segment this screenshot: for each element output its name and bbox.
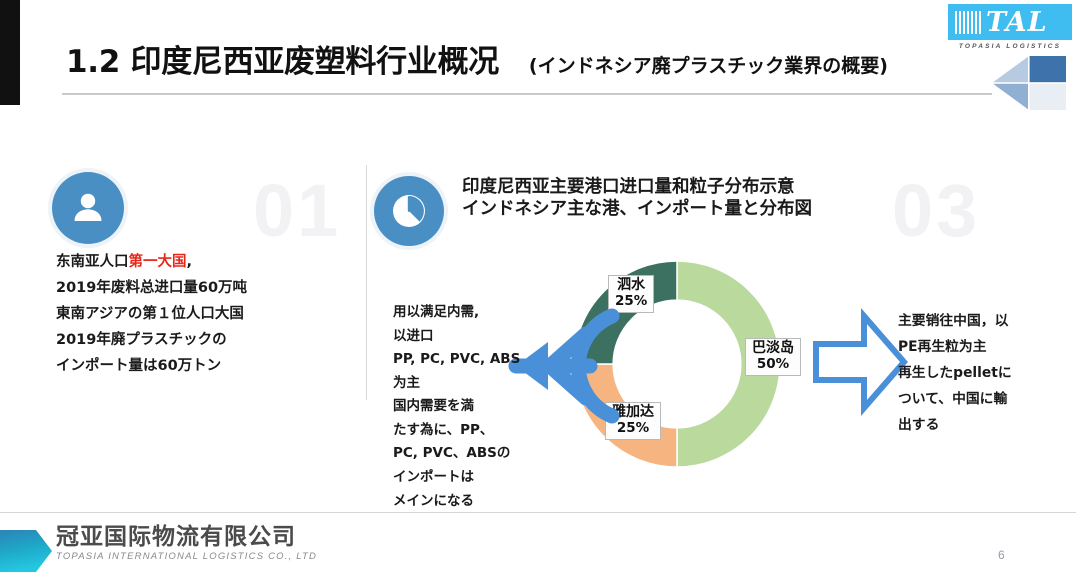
chart-label-sishui-name: 泗水	[615, 278, 647, 294]
tal-logo-text: TAL	[986, 9, 1048, 36]
tal-logo-box: TAL	[948, 4, 1072, 40]
diamond-icon	[992, 56, 1066, 110]
right-line-5: 出する	[898, 418, 1073, 433]
left-text-column: 东南亚人口第一大国, 2019年废料总进口量60万吨 東南アジアの第１位人口大国…	[56, 255, 356, 385]
mid-line-1: 用以满足内需,	[393, 305, 523, 320]
page-title: 1.2 印度尼西亚废塑料行业概况 (インドネシア廃プラスチック業界の概要)	[66, 36, 888, 81]
page-number: 6	[998, 548, 1005, 562]
slide-root: 1.2 印度尼西亚废塑料行业概况 (インドネシア廃プラスチック業界の概要) TA…	[0, 0, 1080, 578]
slide-footer: 冠亚国际物流有限公司 TOPASIA INTERNATIONAL LOGISTI…	[0, 520, 1080, 578]
mid-line-8: インポートは	[393, 470, 523, 485]
mid-line-2: 以进口	[393, 329, 523, 344]
mid-line-4: 为主	[393, 376, 523, 391]
chart-heading: 印度尼西亚主要港口进口量和粒子分布示意 インドネシア主な港、インポート量と分布図	[462, 176, 932, 221]
page-title-sub: (インドネシア廃プラスチック業界の概要)	[529, 51, 888, 78]
highlight-text: 第一大国	[129, 254, 187, 270]
clock-icon	[374, 176, 444, 246]
right-line-4: ついて、中国に輸	[898, 392, 1073, 407]
right-text-column: 主要销往中国，以 PE再生粒为主 再生したpelletに ついて、中国に輸 出す…	[898, 314, 1073, 443]
column-divider	[366, 165, 367, 400]
tal-logo-tagline: TOPASIA LOGISTICS	[948, 43, 1072, 50]
mid-text-column: 用以满足内需, 以进口 PP, PC, PVC, ABS 为主 国内需要を満 た…	[393, 305, 523, 517]
bars-icon	[955, 11, 981, 34]
header-divider	[62, 93, 992, 95]
mid-line-6: たす為に、PP、	[393, 423, 523, 438]
pentagon-mark-icon	[0, 528, 52, 574]
left-line-2: 2019年废料总进口量60万吨	[56, 281, 356, 297]
footer-divider	[0, 512, 1080, 513]
chart-heading-line1: 印度尼西亚主要港口进口量和粒子分布示意	[462, 176, 932, 198]
footer-company: 冠亚国际物流有限公司 TOPASIA INTERNATIONAL LOGISTI…	[56, 525, 317, 562]
right-edge-spacer	[1076, 0, 1080, 578]
footer-company-cn: 冠亚国际物流有限公司	[56, 525, 317, 550]
person-icon	[52, 172, 124, 244]
right-line-1: 主要销往中国，以	[898, 314, 1073, 329]
mid-line-9: メインになる	[393, 494, 523, 509]
left-line-3: 東南アジアの第１位人口大国	[56, 307, 356, 323]
left-line-1: 东南亚人口第一大国,	[56, 255, 356, 271]
chart-label-badan-name: 巴淡岛	[752, 341, 794, 357]
tal-logo: TAL TOPASIA LOGISTICS	[948, 4, 1072, 50]
footer-company-en: TOPASIA INTERNATIONAL LOGISTICS CO., LTD	[56, 551, 317, 562]
left-line-4: 2019年廃プラスチックの	[56, 333, 356, 349]
mid-line-3: PP, PC, PVC, ABS	[393, 352, 523, 367]
slide-header: 1.2 印度尼西亚废塑料行业概况 (インドネシア廃プラスチック業界の概要) TA…	[0, 0, 1080, 100]
chart-label-badan: 巴淡岛 50%	[745, 338, 801, 376]
watermark-number-01: 01	[253, 168, 341, 253]
mid-line-7: PC, PVC、ABSの	[393, 446, 523, 461]
right-line-2: PE再生粒为主	[898, 340, 1073, 355]
chart-heading-line2: インドネシア主な港、インポート量と分布図	[462, 198, 932, 220]
right-line-3: 再生したpelletに	[898, 366, 1073, 381]
arrow-right-outline-icon	[812, 308, 908, 416]
chart-label-badan-value: 50%	[752, 357, 794, 372]
mid-line-5: 国内需要を満	[393, 399, 523, 414]
page-title-main: 1.2 印度尼西亚废塑料行业概况	[66, 36, 499, 81]
arrow-left-circular-icon	[508, 300, 626, 432]
left-line-5: インポート量は60万トン	[56, 359, 356, 375]
